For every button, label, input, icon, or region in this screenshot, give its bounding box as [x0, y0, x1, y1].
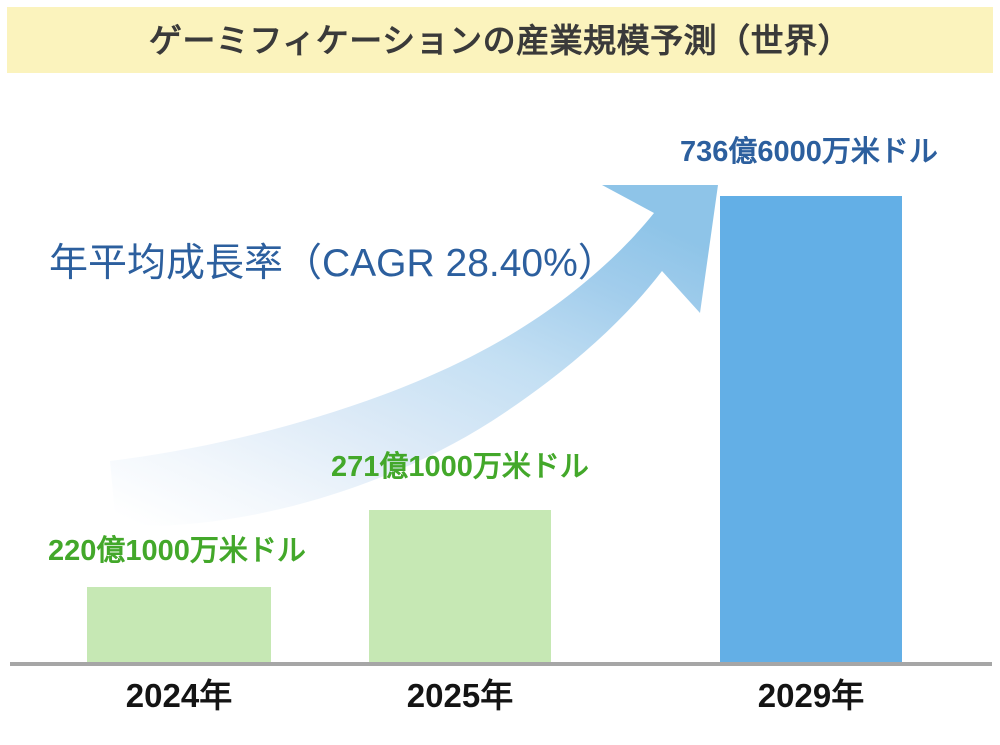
bar-2025	[369, 510, 551, 662]
category-label-2029: 2029年	[720, 679, 902, 712]
title-banner: ゲーミフィケーションの産業規模予測（世界）	[7, 7, 993, 73]
value-label-2025: 271億1000万米ドル	[331, 453, 589, 482]
axis-baseline	[10, 662, 992, 666]
value-label-2029: 736億6000万米ドル	[680, 138, 938, 167]
cagr-annotation: 年平均成長率（CAGR 28.40%）	[49, 242, 617, 287]
chart-canvas: ゲーミフィケーションの産業規模予測（世界）	[0, 0, 1000, 745]
value-label-2024: 220億1000万米ドル	[48, 537, 306, 566]
bar-2024	[87, 587, 271, 662]
category-label-2024: 2024年	[87, 679, 271, 712]
plot-area: 220億1000万米ドル 271億1000万米ドル 736億6000万米ドル 年…	[0, 73, 1000, 745]
page-title: ゲーミフィケーションの産業規模予測（世界）	[149, 24, 851, 57]
category-label-2025: 2025年	[369, 679, 551, 712]
bar-2029	[720, 196, 902, 662]
